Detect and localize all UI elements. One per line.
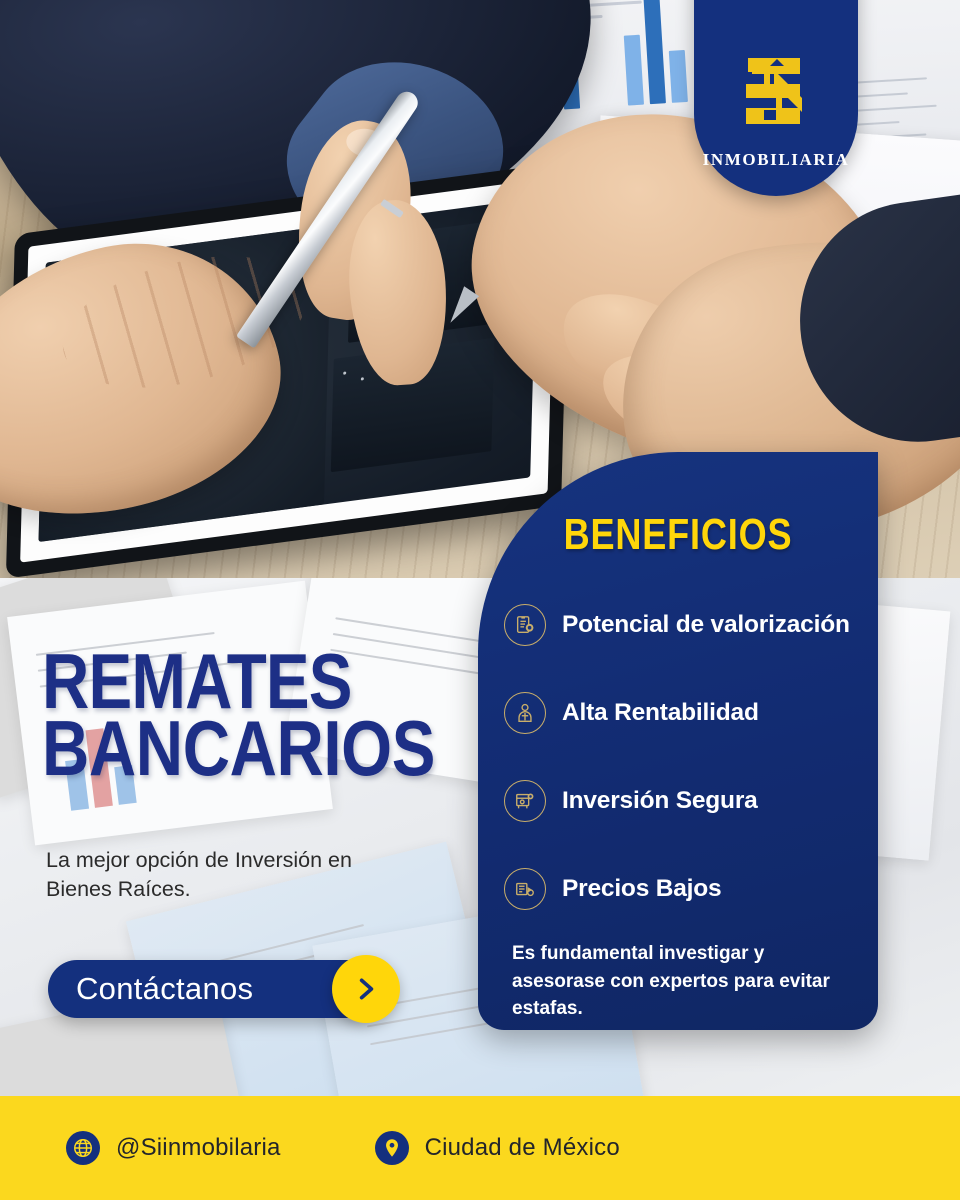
contact-button-label: Contáctanos — [48, 971, 253, 1007]
social-handle[interactable]: @Siinmobilaria — [66, 1131, 281, 1165]
page-title: REMATES BANCARIOS — [42, 648, 435, 782]
benefits-list: Potencial de valorización Alta Rentabili… — [478, 602, 878, 912]
social-handle-label: @Siinmobilaria — [116, 1134, 281, 1162]
clipboard-target-icon — [504, 604, 546, 646]
location-label: Ciudad de México — [425, 1134, 620, 1162]
subtitle: La mejor opción de Inversión en Bienes R… — [46, 846, 376, 904]
benefit-label: Potencial de valorización — [562, 611, 850, 639]
location[interactable]: Ciudad de México — [375, 1131, 620, 1165]
poster: INMOBILIARIA — [0, 0, 960, 1200]
vault-gear-icon — [504, 780, 546, 822]
chevron-right-icon[interactable] — [332, 955, 400, 1023]
logo-subtitle: INMOBILIARIA — [703, 150, 850, 170]
price-tag-icon — [504, 868, 546, 910]
benefits-title: BENEFICIOS — [514, 510, 842, 560]
s-monogram-icon — [740, 52, 812, 140]
map-pin-icon — [375, 1131, 409, 1165]
person-icon — [504, 692, 546, 734]
list-item: Potencial de valorización — [492, 602, 878, 648]
logo-badge: INMOBILIARIA — [694, 0, 858, 196]
list-item: Inversión Segura — [492, 778, 878, 824]
contact-button[interactable]: Contáctanos — [48, 960, 378, 1018]
list-item: Precios Bajos — [492, 866, 878, 912]
headline-line-2: BANCARIOS — [42, 715, 435, 782]
benefits-note: Es fundamental investigar y asesorase co… — [478, 940, 878, 1023]
benefit-label: Precios Bajos — [562, 875, 721, 903]
footer-bar: @Siinmobilaria Ciudad de México — [0, 1096, 960, 1200]
list-item: Alta Rentabilidad — [492, 690, 878, 736]
benefits-panel: BENEFICIOS Potencial de valorización — [478, 452, 878, 1030]
globe-icon — [66, 1131, 100, 1165]
benefit-label: Alta Rentabilidad — [562, 699, 759, 727]
benefit-label: Inversión Segura — [562, 787, 758, 815]
